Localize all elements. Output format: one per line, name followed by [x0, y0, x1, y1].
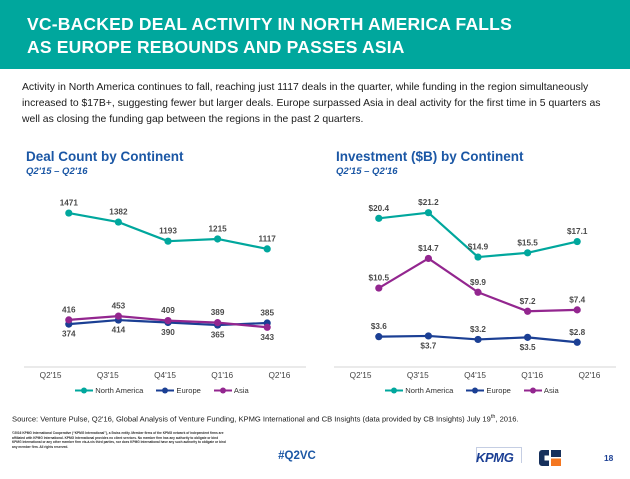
x-tick: Q4'15	[136, 370, 193, 380]
svg-text:414: 414	[112, 326, 126, 335]
legend-marker-icon	[214, 386, 232, 395]
svg-text:365: 365	[211, 331, 225, 340]
x-tick: Q2'15	[332, 370, 389, 380]
plot-area-deal-count: 1471138211931215111737441439036538541645…	[22, 184, 308, 368]
line-chart-deal-count: 1471138211931215111737441439036538541645…	[22, 184, 308, 368]
kpmg-logo: KPMG	[476, 450, 513, 465]
intro-paragraph: Activity in North America continues to f…	[22, 80, 614, 129]
svg-text:$14.7: $14.7	[418, 244, 439, 253]
legend-marker-icon	[524, 386, 542, 395]
hashtag-label: #Q2VC	[237, 450, 357, 462]
legend-item-europe[interactable]: Europe	[466, 386, 511, 395]
svg-text:$14.9: $14.9	[468, 243, 489, 252]
chart-subtitle-deal-count: Q2'15 – Q2'16	[26, 166, 88, 177]
legend-deal-count: North America Europe Asia	[12, 386, 312, 395]
slide: VC-BACKED DEAL ACTIVITY IN NORTH AMERICA…	[0, 0, 630, 479]
svg-text:$3.2: $3.2	[470, 325, 486, 334]
legend-label: Asia	[234, 386, 249, 395]
plot-area-investment: $20.4$21.2$14.9$15.5$17.1$3.6$3.7$3.2$3.…	[332, 184, 618, 368]
x-tick: Q3'15	[79, 370, 136, 380]
legend-investment: North America Europe Asia	[322, 386, 622, 395]
svg-text:385: 385	[260, 309, 274, 318]
svg-text:1117: 1117	[259, 234, 277, 243]
legend-marker-icon	[156, 386, 174, 395]
svg-text:$20.4: $20.4	[369, 204, 390, 213]
x-tick: Q1'16	[194, 370, 251, 380]
chart-title-investment: Investment ($B) by Continent	[336, 149, 524, 164]
legal-fineprint: ©2016 KPMG International Cooperative (“K…	[12, 431, 227, 449]
svg-text:374: 374	[62, 330, 76, 339]
source-note: Source: Venture Pulse, Q2'16, Global Ana…	[12, 414, 519, 424]
x-tick: Q2'16	[561, 370, 618, 380]
svg-text:390: 390	[161, 328, 175, 337]
svg-text:$3.6: $3.6	[371, 322, 387, 331]
page-number: 18	[604, 453, 613, 463]
svg-text:$21.2: $21.2	[418, 198, 439, 207]
page-title: VC-BACKED DEAL ACTIVITY IN NORTH AMERICA…	[27, 13, 607, 59]
legend-item-asia[interactable]: Asia	[524, 386, 559, 395]
chart-panel-deal-count: Deal Count by Continent Q2'15 – Q2'16 14…	[12, 140, 312, 408]
legend-marker-icon	[466, 386, 484, 395]
x-axis-labels-investment: Q2'15 Q3'15 Q4'15 Q1'16 Q2'16	[332, 370, 618, 380]
svg-text:1471: 1471	[60, 199, 79, 208]
svg-text:453: 453	[112, 302, 126, 311]
legend-item-asia[interactable]: Asia	[214, 386, 249, 395]
x-tick: Q3'15	[389, 370, 446, 380]
svg-text:1215: 1215	[208, 224, 227, 233]
svg-text:389: 389	[211, 308, 225, 317]
x-tick: Q2'16	[251, 370, 308, 380]
svg-text:$17.1: $17.1	[567, 227, 588, 236]
svg-text:$7.2: $7.2	[520, 297, 536, 306]
legend-label: Europe	[176, 386, 201, 395]
svg-text:1382: 1382	[109, 208, 128, 217]
legend-item-europe[interactable]: Europe	[156, 386, 201, 395]
svg-text:$15.5: $15.5	[517, 238, 538, 247]
legend-marker-icon	[75, 386, 93, 395]
svg-text:1193: 1193	[159, 227, 177, 236]
page-title-line-2: AS EUROPE REBOUNDS AND PASSES ASIA	[27, 36, 607, 59]
x-axis-labels-deal-count: Q2'15 Q3'15 Q4'15 Q1'16 Q2'16	[22, 370, 308, 380]
legend-label: North America	[95, 386, 143, 395]
legend-item-north-america[interactable]: North America	[385, 386, 453, 395]
chart-title-deal-count: Deal Count by Continent	[26, 149, 184, 164]
legend-label: Asia	[544, 386, 559, 395]
source-prefix: Source: Venture Pulse, Q2'16, Global Ana…	[12, 415, 491, 424]
x-tick: Q4'15	[446, 370, 503, 380]
line-chart-investment: $20.4$21.2$14.9$15.5$17.1$3.6$3.7$3.2$3.…	[332, 184, 618, 368]
page-title-line-1: VC-BACKED DEAL ACTIVITY IN NORTH AMERICA…	[27, 14, 512, 34]
legend-marker-icon	[385, 386, 403, 395]
svg-text:416: 416	[62, 305, 76, 314]
x-tick: Q2'15	[22, 370, 79, 380]
x-tick: Q1'16	[504, 370, 561, 380]
chart-panel-investment: Investment ($B) by Continent Q2'15 – Q2'…	[322, 140, 622, 408]
svg-text:409: 409	[161, 306, 175, 315]
legend-label: Europe	[486, 386, 511, 395]
source-suffix: , 2016.	[495, 415, 518, 424]
svg-text:$3.5: $3.5	[520, 343, 536, 352]
svg-text:343: 343	[260, 333, 274, 342]
svg-text:$9.9: $9.9	[470, 278, 486, 287]
legend-item-north-america[interactable]: North America	[75, 386, 143, 395]
svg-text:$2.8: $2.8	[569, 328, 585, 337]
legend-label: North America	[405, 386, 453, 395]
chart-subtitle-investment: Q2'15 – Q2'16	[336, 166, 398, 177]
svg-text:$3.7: $3.7	[420, 341, 436, 350]
svg-text:$10.5: $10.5	[369, 274, 390, 283]
cb-insights-logo-icon	[539, 450, 561, 466]
svg-text:$7.4: $7.4	[569, 295, 585, 304]
